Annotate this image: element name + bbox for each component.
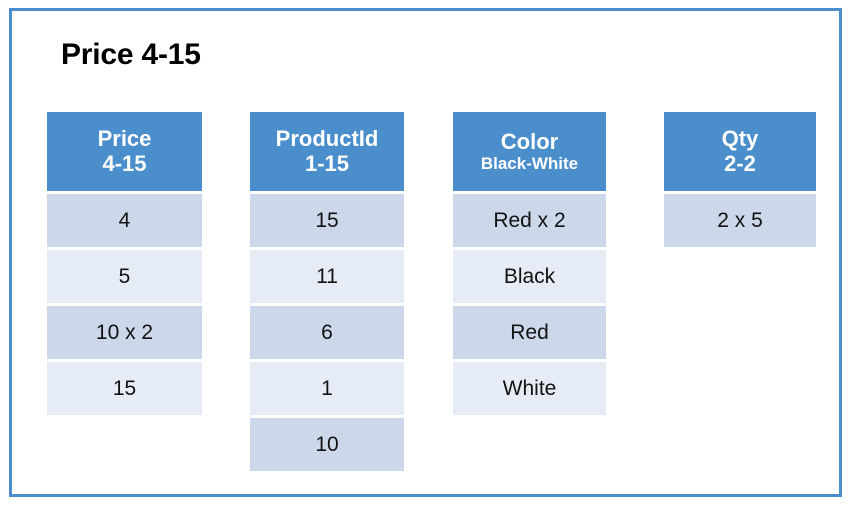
column-header-name: Color xyxy=(501,130,558,155)
column-header-range: 1-15 xyxy=(305,152,349,177)
table-cell[interactable]: Red x 2 xyxy=(453,194,606,247)
table-cell[interactable]: 10 x 2 xyxy=(47,306,202,359)
table-cell[interactable]: White xyxy=(453,362,606,415)
table-cell[interactable]: Black xyxy=(453,250,606,303)
column-color: Color Black-White Red x 2 Black Red Whit… xyxy=(453,112,606,415)
table-cell[interactable]: Red xyxy=(453,306,606,359)
column-qty: Qty 2-2 2 x 5 xyxy=(664,112,816,247)
slide-canvas: Price 4-15 Price 4-15 4 5 10 x 2 15 Prod… xyxy=(0,0,850,508)
table-cell[interactable]: 11 xyxy=(250,250,404,303)
column-header-range: 4-15 xyxy=(102,152,146,177)
table-cell[interactable]: 6 xyxy=(250,306,404,359)
column-productid: ProductId 1-15 15 11 6 1 10 xyxy=(250,112,404,471)
table-cell[interactable]: 15 xyxy=(47,362,202,415)
table-cell[interactable]: 5 xyxy=(47,250,202,303)
column-header-productid: ProductId 1-15 xyxy=(250,112,404,191)
column-header-name: ProductId xyxy=(276,127,379,152)
table-cell[interactable]: 10 xyxy=(250,418,404,471)
table-cell[interactable]: 15 xyxy=(250,194,404,247)
column-header-color: Color Black-White xyxy=(453,112,606,191)
column-header-name: Qty xyxy=(722,127,759,152)
slide-border-frame: Price 4-15 Price 4-15 4 5 10 x 2 15 Prod… xyxy=(9,8,842,497)
column-price: Price 4-15 4 5 10 x 2 15 xyxy=(47,112,202,415)
table-cell[interactable]: 2 x 5 xyxy=(664,194,816,247)
table-cell[interactable]: 1 xyxy=(250,362,404,415)
column-header-price: Price 4-15 xyxy=(47,112,202,191)
column-header-range: Black-White xyxy=(481,154,578,173)
table-cell[interactable]: 4 xyxy=(47,194,202,247)
page-title: Price 4-15 xyxy=(61,38,201,72)
column-header-range: 2-2 xyxy=(724,152,756,177)
column-header-name: Price xyxy=(98,127,152,152)
column-header-qty: Qty 2-2 xyxy=(664,112,816,191)
